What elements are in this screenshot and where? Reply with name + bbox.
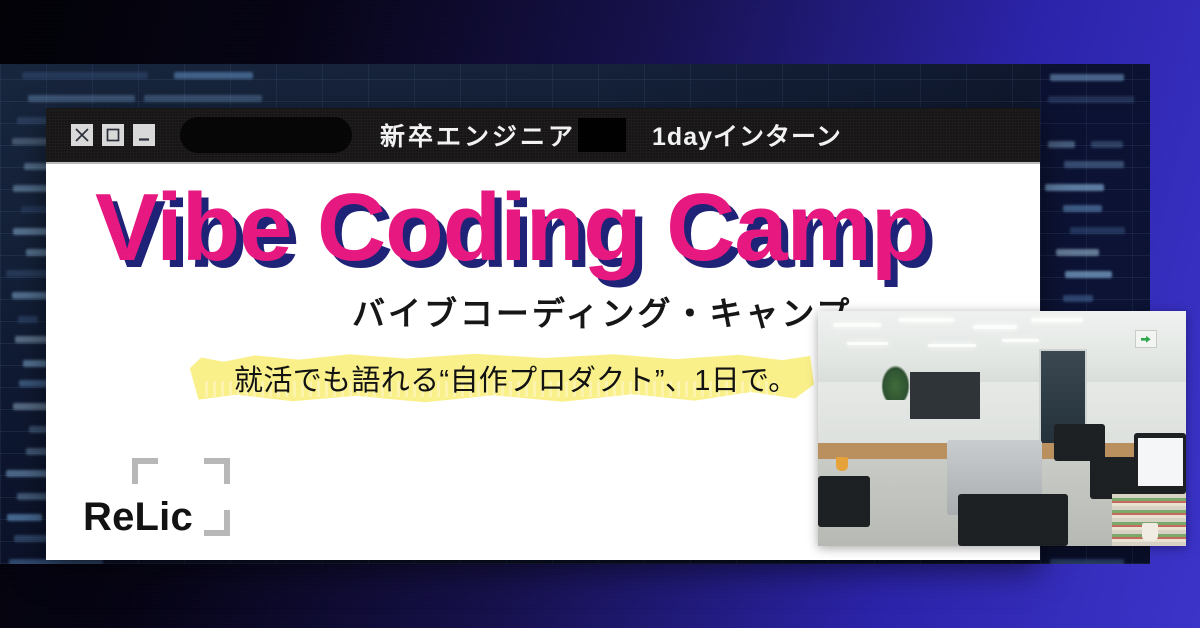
photo-cabinet — [910, 372, 980, 419]
tagline-block: 就活でも語れる“自作プロダクト”、1日で。 — [186, 347, 842, 409]
address-bar[interactable] — [180, 117, 352, 153]
photo-desk-item — [836, 457, 848, 471]
relic-logo-text: ReLic — [83, 495, 193, 540]
minimize-icon[interactable] — [133, 124, 155, 146]
bracket-bottom-right-icon — [204, 510, 230, 536]
window-controls[interactable] — [71, 124, 155, 146]
photo-monitor-right — [1134, 433, 1186, 494]
office-photo — [818, 311, 1186, 546]
page-subtitle: バイブコーディング・キャンプ — [352, 287, 852, 335]
tagline-text: 就活でも語れる“自作プロダクト”、1日で。 — [186, 347, 842, 409]
photo-monitor-right-back — [1090, 457, 1138, 499]
page-title: Vibe Coding Camp — [95, 180, 928, 276]
window-title-segment-2: 1dayインターン — [652, 117, 842, 153]
photo-coffee-cup — [1142, 523, 1158, 541]
title-separator-block — [578, 118, 626, 152]
close-icon[interactable] — [71, 124, 93, 146]
maximize-icon[interactable] — [102, 124, 124, 146]
relic-logo: ReLic — [83, 454, 229, 546]
window-title: 新卒エンジニア 1dayインターン — [380, 117, 842, 153]
photo-monitor-mid — [1054, 424, 1106, 462]
photo-plant — [881, 365, 910, 400]
bracket-top-right-icon — [204, 458, 230, 484]
photo-monitor-front — [958, 494, 1068, 546]
window-titlebar: 新卒エンジニア 1dayインターン — [46, 108, 1040, 164]
bracket-top-left-icon — [132, 458, 158, 484]
window-title-segment-1: 新卒エンジニア — [380, 117, 576, 153]
photo-monitor-left — [818, 476, 870, 528]
exit-sign-icon — [1135, 330, 1157, 348]
poster-canvas: 新卒エンジニア 1dayインターン Vibe Coding Camp バイブコー… — [0, 0, 1200, 628]
